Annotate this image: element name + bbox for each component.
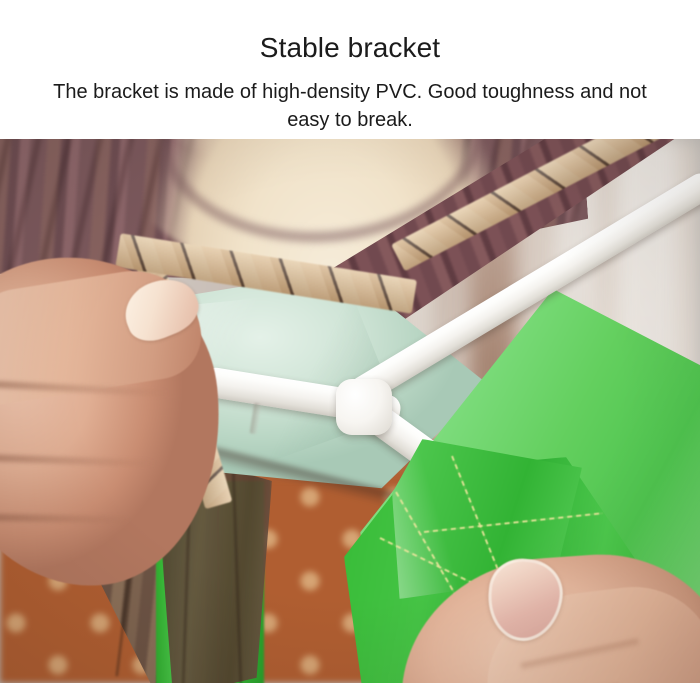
header-band: Stable bracket The bracket is made of hi… bbox=[0, 0, 700, 139]
footer-band bbox=[0, 683, 700, 700]
page-title: Stable bracket bbox=[0, 31, 700, 65]
pvc-bracket-elbow-joint bbox=[336, 379, 392, 435]
product-detail-image: Stable bracket The bracket is made of hi… bbox=[0, 0, 700, 700]
page-subtitle: The bracket is made of high-density PVC.… bbox=[0, 78, 700, 134]
product-photo bbox=[0, 139, 700, 683]
